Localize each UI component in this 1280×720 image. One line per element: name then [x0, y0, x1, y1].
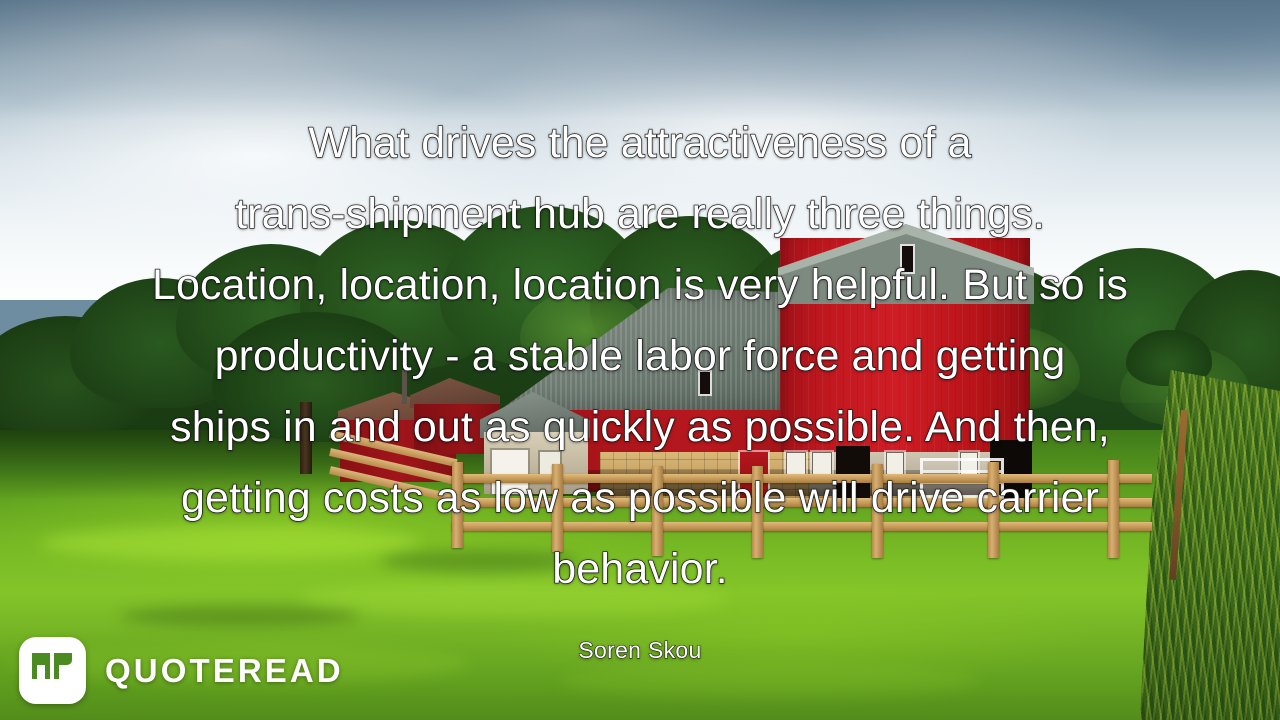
brand-logo[interactable]: QUOTEREAD: [19, 637, 344, 704]
quote-text-block: What drives the attractiveness of a tran…: [0, 108, 1280, 605]
quote-line: productivity - a stable labor force and …: [24, 321, 1256, 392]
quote-line: Location, location, location is very hel…: [24, 250, 1256, 321]
quote-line: getting costs as low as possible will dr…: [24, 463, 1256, 534]
quote-line: trans-shipment hub are really three thin…: [24, 179, 1256, 250]
brand-mark[interactable]: [19, 637, 86, 704]
brand-name: QUOTEREAD: [105, 652, 344, 690]
quote-line: ships in and out as quickly as possible.…: [24, 392, 1256, 463]
quote-card: What drives the attractiveness of a tran…: [0, 0, 1280, 720]
quote-line: behavior.: [24, 534, 1256, 605]
quote-line: What drives the attractiveness of a: [24, 108, 1256, 179]
double-quote-icon: [30, 651, 76, 691]
